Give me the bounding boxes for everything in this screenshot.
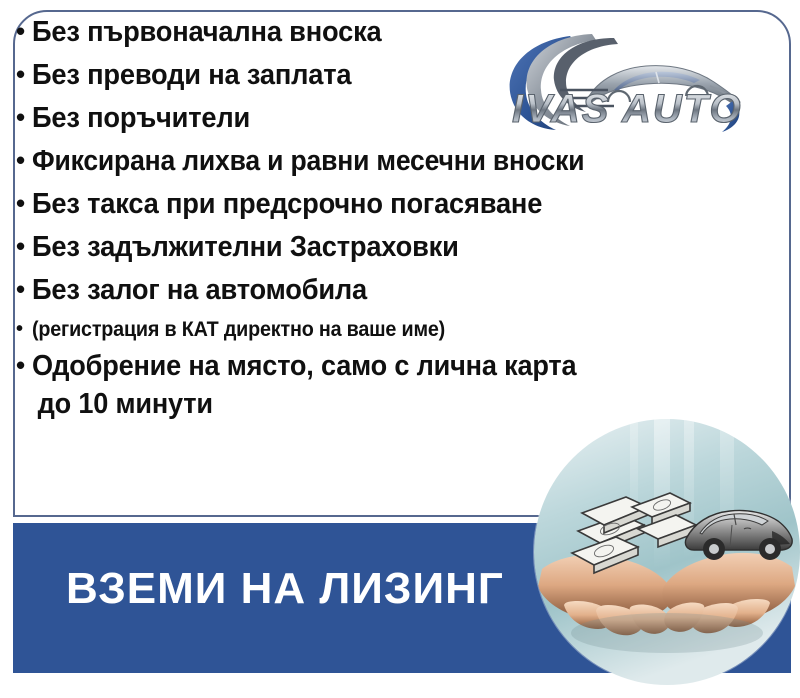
list-item: • Без задължителни Застраховки xyxy=(16,233,776,262)
bullet-dot-icon: • xyxy=(16,352,32,379)
bullet-dot-icon: • xyxy=(16,104,32,131)
bullet-dot-icon: • xyxy=(16,61,32,88)
poster-root: • Без първоначална вноска • Без преводи … xyxy=(0,0,800,698)
bullet-dot-icon: • xyxy=(16,319,32,340)
list-item: • Фиксирана лихва и равни месечни вноски xyxy=(16,147,776,176)
bullet-dot-icon: • xyxy=(16,147,32,174)
logo-wordmark: IVAS AUTO xyxy=(512,87,743,131)
list-item-note-label: (регистрация в КАТ директно на ваше име) xyxy=(32,319,445,340)
bullet-dot-icon: • xyxy=(16,18,32,45)
list-item-note: • (регистрация в КАТ директно на ваше им… xyxy=(16,319,776,340)
list-item-label: Одобрение на място, само с лична карта xyxy=(32,350,576,382)
list-item: • Без такса при предсрочно погасяване xyxy=(16,190,776,219)
bullet-dot-icon: • xyxy=(16,276,32,303)
list-item-label: Без залог на автомобила xyxy=(32,276,367,305)
list-item-label-line2: до 10 минути xyxy=(32,390,576,419)
list-item-label: Фиксирана лихва и равни месечни вноски xyxy=(32,147,584,176)
bullet-dot-icon: • xyxy=(16,233,32,260)
ivas-auto-logo: IVAS AUTO xyxy=(496,28,758,136)
hands-money-car-photo xyxy=(534,419,800,685)
list-item-label: Без преводи на заплата xyxy=(32,61,351,90)
list-item-label-wrapper: Одобрение на място, само с лична карта д… xyxy=(32,352,576,419)
list-item: • Без залог на автомобила xyxy=(16,276,776,305)
cta-headline: ВЗЕМИ НА ЛИЗИНГ xyxy=(66,567,536,611)
bullet-dot-icon: • xyxy=(16,190,32,217)
list-item-label: Без първоначална вноска xyxy=(32,18,382,47)
list-item-label: Без такса при предсрочно погасяване xyxy=(32,190,542,219)
list-item-label: Без поръчители xyxy=(32,104,250,133)
list-item-label: Без задължителни Застраховки xyxy=(32,233,459,262)
list-item: • Одобрение на място, само с лична карта… xyxy=(16,352,776,419)
